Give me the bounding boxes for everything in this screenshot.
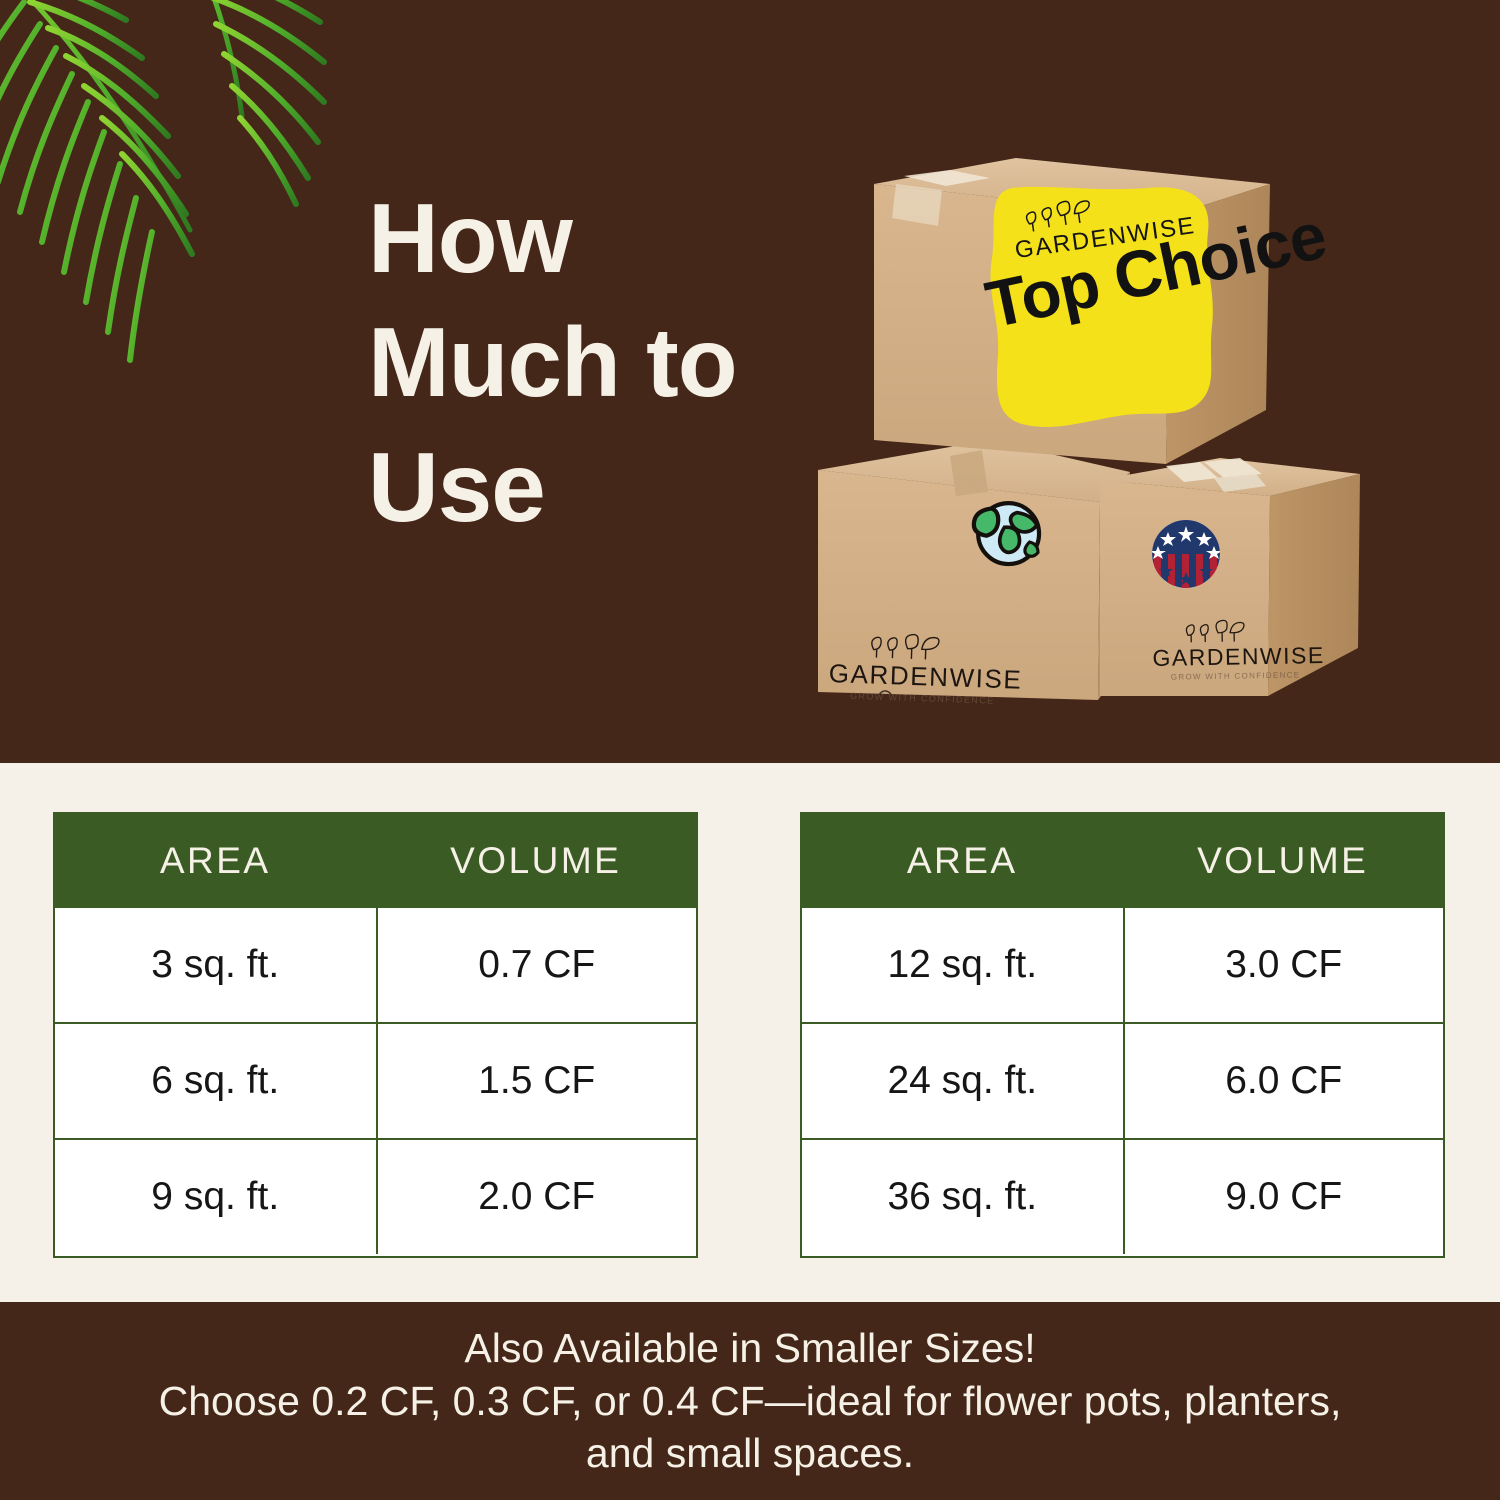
table-row: 3 sq. ft. 0.7 CF <box>55 908 696 1022</box>
table-row: 9 sq. ft. 2.0 CF <box>55 1138 696 1254</box>
footer-line-2: Choose 0.2 CF, 0.3 CF, or 0.4 CF—ideal f… <box>159 1375 1342 1427</box>
cell-volume: 6.0 CF <box>1123 1024 1444 1138</box>
palm-frond-icon <box>0 0 400 370</box>
table-row: 36 sq. ft. 9.0 CF <box>802 1138 1443 1254</box>
svg-text:GARDENWISE: GARDENWISE <box>1152 642 1325 671</box>
cell-area: 12 sq. ft. <box>802 908 1123 1022</box>
usage-table-right: AREA VOLUME 12 sq. ft. 3.0 CF 24 sq. ft.… <box>800 812 1445 1258</box>
table-right-header-volume: VOLUME <box>1123 814 1444 908</box>
cell-volume: 9.0 CF <box>1123 1140 1444 1254</box>
cell-area: 24 sq. ft. <box>802 1024 1123 1138</box>
table-row: 12 sq. ft. 3.0 CF <box>802 908 1443 1022</box>
infographic-page: How Much to Use <box>0 0 1500 1500</box>
page-title: How Much to Use <box>368 176 788 549</box>
cell-volume: 0.7 CF <box>376 908 697 1022</box>
cell-area: 9 sq. ft. <box>55 1140 376 1254</box>
table-left-header-area: AREA <box>55 814 376 908</box>
right-box: GARDENWISE GROW WITH CONFIDENCE <box>1100 458 1360 696</box>
footer-banner: Also Available in Smaller Sizes! Choose … <box>0 1302 1500 1500</box>
tables-section: AREA VOLUME 3 sq. ft. 0.7 CF 6 sq. ft. 1… <box>0 763 1500 1302</box>
top-box: GARDENWISE Top Choice <box>874 158 1332 464</box>
table-row: 6 sq. ft. 1.5 CF <box>55 1022 696 1138</box>
usage-table-left: AREA VOLUME 3 sq. ft. 0.7 CF 6 sq. ft. 1… <box>53 812 698 1258</box>
table-left-header-volume: VOLUME <box>376 814 697 908</box>
table-right-header-area: AREA <box>802 814 1123 908</box>
cell-area: 36 sq. ft. <box>802 1140 1123 1254</box>
table-row: 24 sq. ft. 6.0 CF <box>802 1022 1443 1138</box>
cell-volume: 1.5 CF <box>376 1024 697 1138</box>
title-line-2: Much to <box>368 300 788 424</box>
cell-volume: 2.0 CF <box>376 1140 697 1254</box>
middle-box: GARDENWISE GROW WITH CONFIDENCE <box>818 440 1130 707</box>
cell-area: 3 sq. ft. <box>55 908 376 1022</box>
title-line-3: Use <box>368 425 788 549</box>
hero-section: How Much to Use <box>0 0 1500 763</box>
cell-area: 6 sq. ft. <box>55 1024 376 1138</box>
table-left-header-row: AREA VOLUME <box>55 814 696 908</box>
footer-line-1: Also Available in Smaller Sizes! <box>464 1322 1035 1374</box>
table-right-header-row: AREA VOLUME <box>802 814 1443 908</box>
title-line-1: How <box>368 176 788 300</box>
cell-volume: 3.0 CF <box>1123 908 1444 1022</box>
product-boxes-illustration: GARDENWISE GROW WITH CONFIDENCE <box>800 140 1480 720</box>
footer-line-3: and small spaces. <box>586 1427 914 1479</box>
